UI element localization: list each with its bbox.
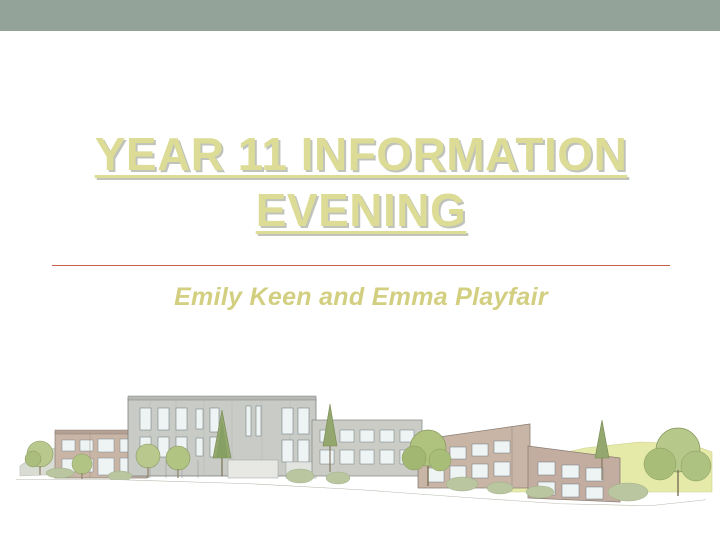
slide-subtitle: Emily Keen and Emma Playfair [52, 283, 670, 312]
subtitle-block: Emily Keen and Emma Playfair [52, 283, 670, 312]
campus-illustration [0, 380, 720, 540]
slide-title: Year 11 Information Evening [52, 126, 670, 238]
presentation-slide: Year 11 Information Evening Emily Keen a… [0, 0, 720, 540]
top-accent-band [0, 0, 720, 31]
title-divider-rule [52, 265, 670, 266]
title-block: Year 11 Information Evening [52, 126, 670, 238]
campus-illustration-svg [0, 380, 720, 540]
